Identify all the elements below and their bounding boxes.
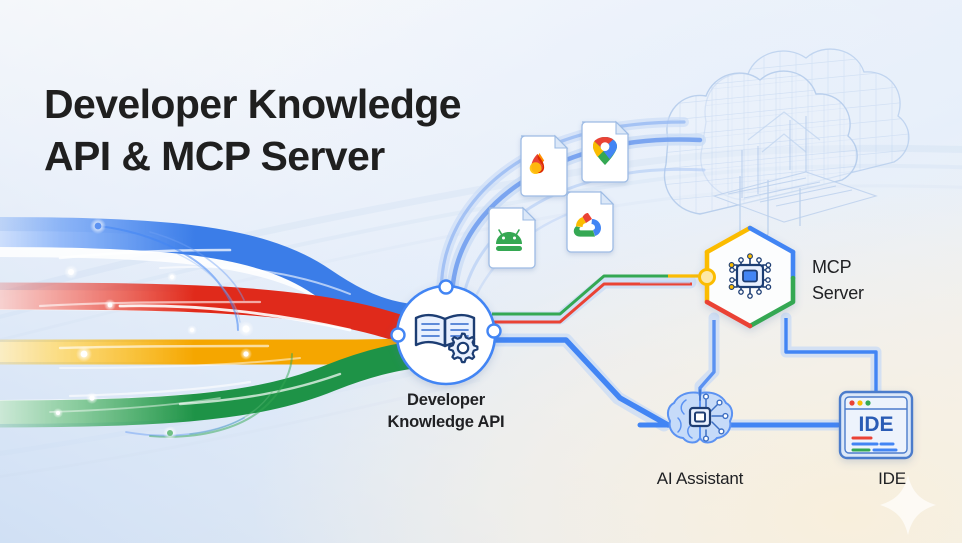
- label-developer-knowledge-api: Developer Knowledge API: [336, 390, 556, 434]
- diagram-canvas: IDE Developer Knowledge API & MCP Server…: [0, 0, 962, 543]
- node-developer-knowledge-api: [392, 281, 501, 385]
- node-ide: IDE: [840, 392, 912, 458]
- node-mcp-server: [700, 228, 794, 326]
- label-ai-assistant: AI Assistant: [620, 468, 780, 491]
- ide-screen-text: IDE: [858, 413, 893, 436]
- label-mcp-server: MCP Server: [812, 254, 942, 306]
- node-ai-assistant: [668, 390, 732, 443]
- page-title: Developer Knowledge API & MCP Server: [44, 78, 461, 183]
- label-ide: IDE: [822, 468, 962, 491]
